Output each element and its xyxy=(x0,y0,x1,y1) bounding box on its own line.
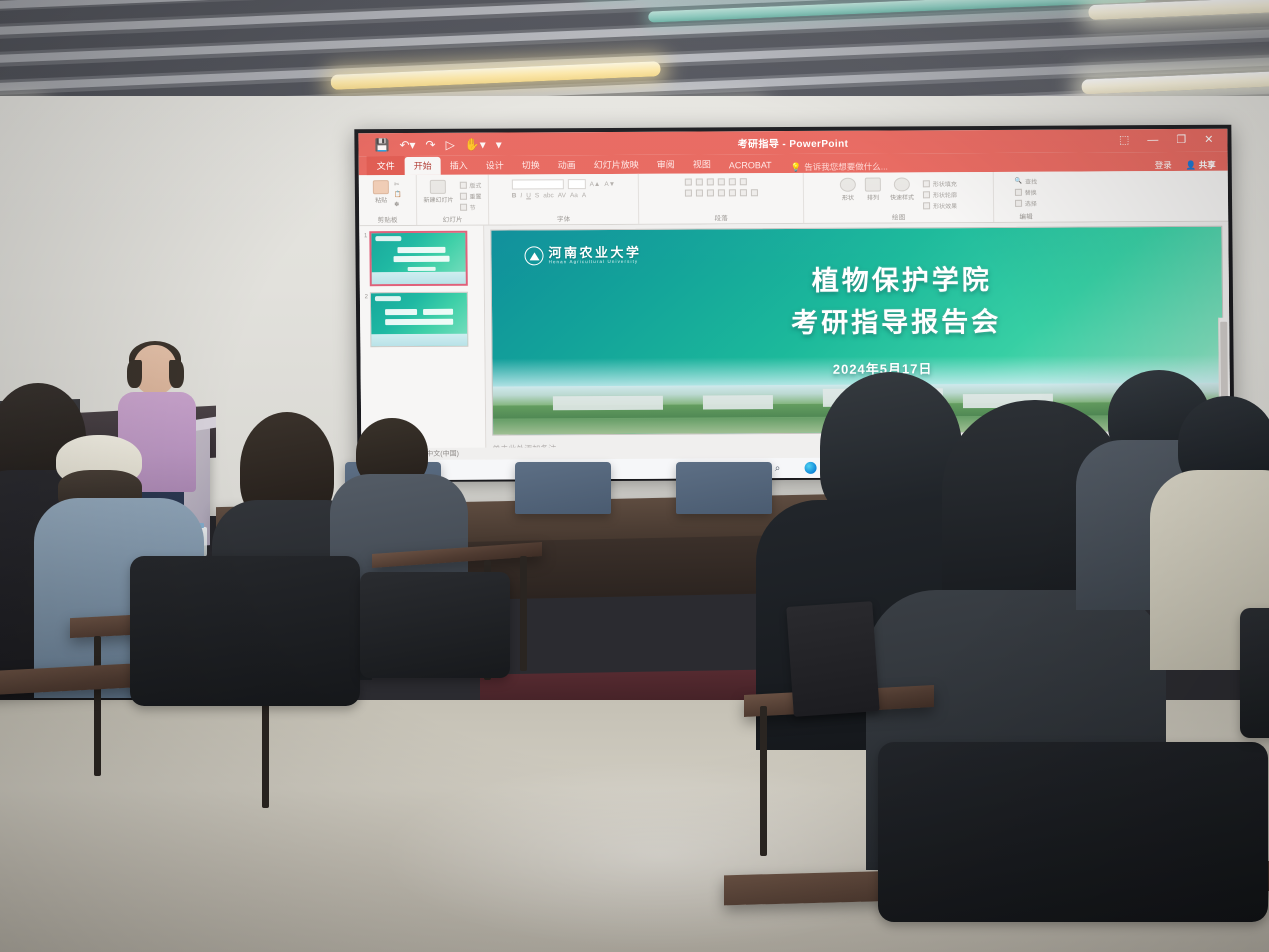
shape-outline-button[interactable]: 形状轮廓 xyxy=(923,190,957,199)
arrange-label: 排列 xyxy=(867,193,879,202)
shape-effects-icon xyxy=(923,202,930,209)
align-center-icon[interactable] xyxy=(695,189,702,196)
start-slideshow-icon[interactable]: ▷ xyxy=(445,138,454,150)
align-right-icon[interactable] xyxy=(706,189,713,196)
slide-title-line2: 考研指导报告会 xyxy=(492,299,1222,342)
tab-file[interactable]: 文件 xyxy=(367,156,405,175)
section-label: 节 xyxy=(470,203,476,212)
find-icon: 🔍 xyxy=(1015,178,1023,185)
strikethrough-icon[interactable]: abc xyxy=(543,192,554,199)
scrollbar-thumb[interactable] xyxy=(1220,322,1228,408)
window-controls[interactable]: ⬚ — ❐ ✕ xyxy=(1119,135,1228,147)
thumbnail-ground xyxy=(372,272,466,284)
shadow-icon[interactable]: S xyxy=(535,192,539,199)
shape-fill-label: 形状填充 xyxy=(933,179,957,188)
thumbnail-title-line2 xyxy=(394,256,450,262)
new-slide-icon xyxy=(430,180,446,194)
select-button[interactable]: 选择 xyxy=(1015,199,1037,208)
tell-me-placeholder: 告诉我您想要做什么... xyxy=(804,161,888,173)
undo-icon[interactable]: ↶▾ xyxy=(399,138,415,150)
slide-date: 2024年5月17日 xyxy=(493,357,1223,380)
paste-icon xyxy=(373,180,389,194)
chair-audience-2 xyxy=(360,572,510,678)
group-label-drawing: 绘图 xyxy=(892,211,906,221)
chair-audience-3 xyxy=(878,742,1268,922)
new-slide-button[interactable]: 新建幻灯片 xyxy=(423,180,453,212)
campus-building-2 xyxy=(703,395,773,409)
presenter-hair-left xyxy=(127,360,142,388)
shape-effects-button[interactable]: 形状效果 xyxy=(923,201,957,210)
thumbnail-logo xyxy=(375,236,401,241)
font-name-input[interactable] xyxy=(512,179,564,189)
replace-icon xyxy=(1015,189,1022,196)
thumbnail-title-line1 xyxy=(397,247,445,253)
chair-audience-4 xyxy=(1240,608,1269,738)
new-slide-label: 新建幻灯片 xyxy=(423,195,453,204)
thumbnail2-line2 xyxy=(385,319,453,325)
shapes-button[interactable]: 形状 xyxy=(840,178,856,202)
layout-label: 版式 xyxy=(469,181,481,190)
slide-thumbnail-1[interactable] xyxy=(369,231,468,287)
arrange-icon xyxy=(865,178,881,192)
share-button[interactable]: 👤 共享 xyxy=(1186,159,1216,171)
ribbon-group-clipboard: 粘贴 ✄ 📋 ✽ 剪贴板 xyxy=(359,175,417,225)
select-icon xyxy=(1015,200,1022,207)
layout-icon xyxy=(459,182,466,189)
ribbon[interactable]: 粘贴 ✄ 📋 ✽ 剪贴板 xyxy=(359,171,1228,227)
redo-icon[interactable]: ↷ xyxy=(425,138,435,150)
quick-styles-button[interactable]: 快速样式 xyxy=(890,177,914,201)
bold-icon[interactable]: B xyxy=(512,192,517,199)
justify-icon[interactable] xyxy=(717,189,724,196)
group-label-paragraph: 段落 xyxy=(714,212,728,222)
text-direction-icon[interactable] xyxy=(739,178,746,185)
thumbnail-row-1[interactable]: 1 xyxy=(361,231,480,287)
shape-outline-icon xyxy=(923,191,930,198)
find-label: 查找 xyxy=(1025,177,1037,186)
tab-acrobat[interactable]: ACROBAT xyxy=(720,158,781,173)
share-label: 共享 xyxy=(1199,160,1216,170)
tab-slideshow[interactable]: 幻灯片放映 xyxy=(585,156,648,174)
presenter-hair-right xyxy=(169,360,184,388)
campus-building-1 xyxy=(553,396,663,411)
thumbnail2-line1b xyxy=(423,309,453,315)
section-button[interactable]: 节 xyxy=(460,203,482,212)
group-label-clipboard: 剪贴板 xyxy=(378,214,398,224)
arrange-button[interactable]: 排列 xyxy=(865,178,881,202)
decrease-font-icon[interactable]: A▼ xyxy=(604,180,615,187)
ribbon-display-options-icon[interactable]: ⬚ xyxy=(1119,135,1130,146)
smartart-icon[interactable] xyxy=(750,189,757,196)
slide-title-line1: 植物保护学院 xyxy=(492,257,1222,300)
numbering-icon[interactable] xyxy=(695,178,702,185)
shape-effects-label: 形状效果 xyxy=(933,201,957,210)
language-indicator[interactable]: 中文(中国) xyxy=(426,449,459,459)
shape-outline-label: 形状轮廓 xyxy=(933,190,957,199)
ribbon-group-paragraph: 段落 xyxy=(639,173,804,224)
tab-home[interactable]: 开始 xyxy=(405,157,441,175)
select-label: 选择 xyxy=(1025,199,1037,208)
tab-animations[interactable]: 动画 xyxy=(549,156,585,174)
find-button[interactable]: 🔍 查找 xyxy=(1015,177,1038,186)
reset-icon xyxy=(459,193,466,200)
align-text-icon[interactable] xyxy=(739,189,746,196)
paste-button[interactable]: 粘贴 xyxy=(373,180,389,204)
sign-in-link[interactable]: 登录 xyxy=(1155,159,1172,171)
customize-qat-icon[interactable]: ▾ xyxy=(496,138,502,150)
char-spacing-icon[interactable]: AV xyxy=(558,192,566,199)
thumbnail-number-1: 1 xyxy=(361,231,367,239)
slide-thumbnail-2[interactable] xyxy=(370,292,469,348)
thumbnail-date-line xyxy=(408,267,436,271)
thumbnail-number-2: 2 xyxy=(362,292,368,300)
close-icon[interactable]: ✕ xyxy=(1204,135,1213,146)
cut-icon[interactable]: ✄ xyxy=(394,181,402,188)
italic-icon[interactable]: I xyxy=(520,192,522,199)
shapes-icon xyxy=(840,178,856,192)
section-icon xyxy=(460,204,467,211)
copy-icon[interactable]: 📋 xyxy=(394,191,402,198)
paste-label: 粘贴 xyxy=(375,195,387,204)
layout-button[interactable]: 版式 xyxy=(459,181,481,190)
quick-styles-label: 快速样式 xyxy=(890,192,914,201)
tab-design[interactable]: 设计 xyxy=(477,156,513,174)
chair-front-2 xyxy=(515,462,611,514)
thumbnail2-logo xyxy=(375,296,401,301)
thumbnail2-ground xyxy=(371,334,467,347)
align-left-icon[interactable] xyxy=(684,190,691,197)
lecture-hall-scene: 💾 ↶▾ ↷ ▷ ✋▾ ▾ 考研指导 - PowerPoint ⬚ — ❐ ✕ … xyxy=(0,0,1269,952)
lightbulb-icon: 💡 xyxy=(791,161,802,172)
account-area[interactable]: 登录 👤 共享 xyxy=(1155,159,1228,171)
decrease-indent-icon[interactable] xyxy=(706,178,713,185)
thumbnail2-line1a xyxy=(385,309,417,315)
floor-reflection xyxy=(380,760,940,950)
font-size-input[interactable] xyxy=(568,179,586,189)
tab-transitions[interactable]: 切换 xyxy=(513,156,549,174)
group-label-editing: 编辑 xyxy=(1019,211,1033,221)
line-spacing-icon[interactable] xyxy=(728,178,735,185)
tab-insert[interactable]: 插入 xyxy=(441,157,477,175)
reset-button[interactable]: 重置 xyxy=(459,192,481,201)
underline-icon[interactable]: U xyxy=(526,192,531,199)
chair-front-3 xyxy=(676,462,772,514)
ribbon-group-editing: 🔍 查找 替换 选择 编辑 xyxy=(994,172,1058,222)
replace-label: 替换 xyxy=(1025,188,1037,197)
change-case-icon[interactable]: Aa xyxy=(570,192,578,199)
tab-view[interactable]: 视图 xyxy=(684,155,720,173)
format-painter-icon[interactable]: ✽ xyxy=(394,201,402,208)
shapes-label: 形状 xyxy=(842,193,854,202)
ribbon-group-slides: 新建幻灯片 版式 重置 xyxy=(417,175,489,225)
ribbon-group-drawing: 形状 排列 快速样式 形状填充 xyxy=(804,172,994,223)
ribbon-group-font: A▲ A▼ B I U S abc AV Aa A xyxy=(489,174,639,225)
font-color-icon[interactable]: A xyxy=(582,192,586,199)
search-icon[interactable]: ⌕ xyxy=(775,463,781,474)
desk-leg-4 xyxy=(94,636,101,776)
quick-access-toolbar[interactable]: 💾 ↶▾ ↷ ▷ ✋▾ ▾ xyxy=(358,138,501,151)
bullets-icon[interactable] xyxy=(684,179,691,186)
save-icon[interactable]: 💾 xyxy=(374,139,389,151)
shape-fill-icon xyxy=(923,180,930,187)
chair-audience-1 xyxy=(130,556,360,706)
columns-icon[interactable] xyxy=(728,189,735,196)
desk-leg-2 xyxy=(520,556,527,671)
increase-indent-icon[interactable] xyxy=(717,178,724,185)
minimize-icon[interactable]: — xyxy=(1147,135,1158,146)
restore-icon[interactable]: ❐ xyxy=(1176,135,1186,146)
tab-review[interactable]: 审阅 xyxy=(648,156,684,174)
quick-styles-icon xyxy=(894,177,910,191)
group-label-font: 字体 xyxy=(557,213,571,223)
tell-me-box[interactable]: 💡 告诉我您想要做什么... xyxy=(791,161,888,174)
university-name-cn: 河南农业大学 xyxy=(548,246,641,259)
shape-fill-button[interactable]: 形状填充 xyxy=(923,179,957,188)
reset-label: 重置 xyxy=(469,192,481,201)
increase-font-icon[interactable]: A▲ xyxy=(590,181,601,188)
desk-leg-5 xyxy=(760,706,767,856)
replace-button[interactable]: 替换 xyxy=(1015,188,1037,197)
thumbnail-row-2[interactable]: 2 xyxy=(362,292,481,348)
touch-mode-icon[interactable]: ✋▾ xyxy=(465,138,486,150)
edge-browser-icon[interactable] xyxy=(804,462,816,474)
group-label-slides: 幻灯片 xyxy=(443,214,463,224)
notebook-on-desk xyxy=(786,601,879,717)
